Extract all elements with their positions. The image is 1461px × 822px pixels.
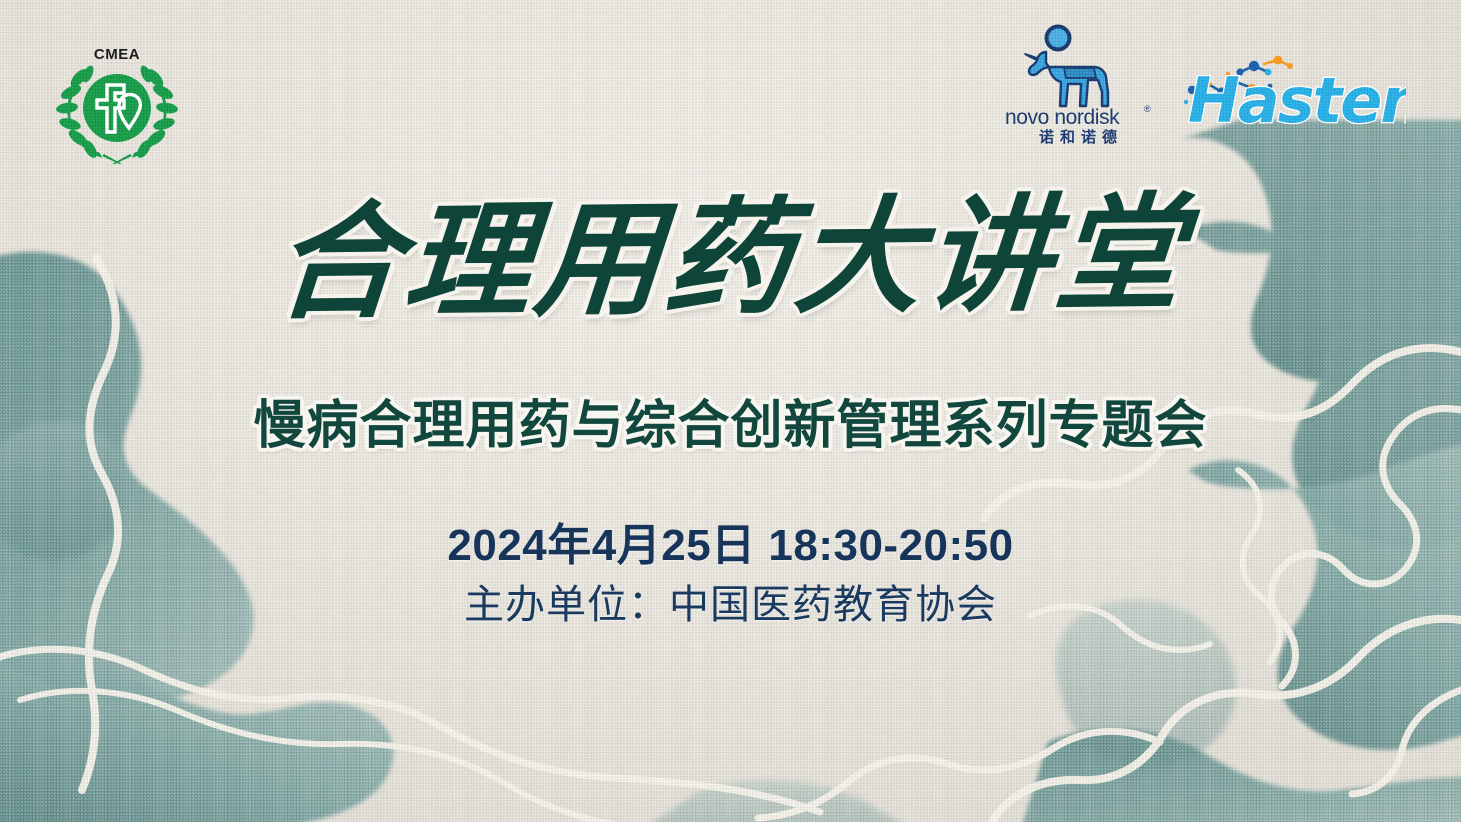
apis-sphere-icon — [1045, 25, 1072, 52]
novo-nordisk-wordmark: novo nordisk — [1005, 106, 1120, 129]
apis-bull-icon — [1025, 52, 1108, 106]
apis-bull-blanket — [1064, 68, 1096, 78]
event-date-time: 2024年4月25日 18:30-20:50 — [0, 509, 1461, 573]
registered-mark: ® — [1144, 104, 1151, 114]
hasten-logo: Hasten — [1178, 52, 1406, 134]
cmea-acronym-text: CMEA — [94, 46, 140, 63]
page-subtitle: 慢病合理用药与综合创新管理系列专题会 — [0, 383, 1461, 458]
page-title: 合理用药大讲堂 — [0, 180, 1461, 336]
event-poster: CMEA — [0, 0, 1461, 822]
cmea-logo: CMEA — [52, 42, 182, 164]
novo-nordisk-chinese-name: 诺和诺德 — [1039, 128, 1123, 144]
hasten-wordmark: Hasten — [1188, 64, 1406, 134]
novo-nordisk-logo: novo nordisk ® 诺和诺德 — [1002, 22, 1160, 144]
event-organizer: 主办单位：中国医药教育协会 — [0, 572, 1461, 630]
svg-text:CMEA: CMEA — [94, 46, 140, 63]
